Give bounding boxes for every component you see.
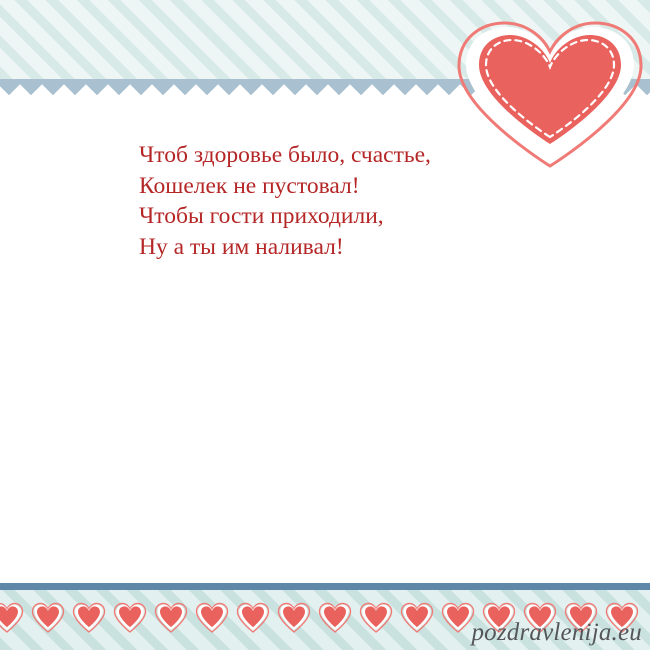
heart-icon-small [277,602,311,633]
poem-line-1: Чтоб здоровье было, счастье, [139,140,559,171]
heart-icon-small [72,602,106,633]
heart-icon-small [154,602,188,633]
zigzag-edge-bottom [0,572,650,583]
heart-icon-small [359,602,393,633]
greeting-card: Чтоб здоровье было, счастье, Кошелек не … [0,0,650,650]
heart-icon-small [441,602,475,633]
poem-line-4: Ну а ты им наливал! [139,232,559,263]
heart-icon-small [318,602,352,633]
heart-icon-small [0,602,24,633]
heart-icon-small [31,602,65,633]
heart-icon-small [195,602,229,633]
site-watermark: pozdravlenija.eu [471,620,642,646]
poem-line-2: Кошелек не пустовал! [139,171,559,202]
heart-icon-small [236,602,270,633]
heart-icon-small [400,602,434,633]
heart-icon-small [113,602,147,633]
greeting-poem: Чтоб здоровье было, счастье, Кошелек не … [139,140,559,262]
poem-line-3: Чтобы гости приходили, [139,201,559,232]
